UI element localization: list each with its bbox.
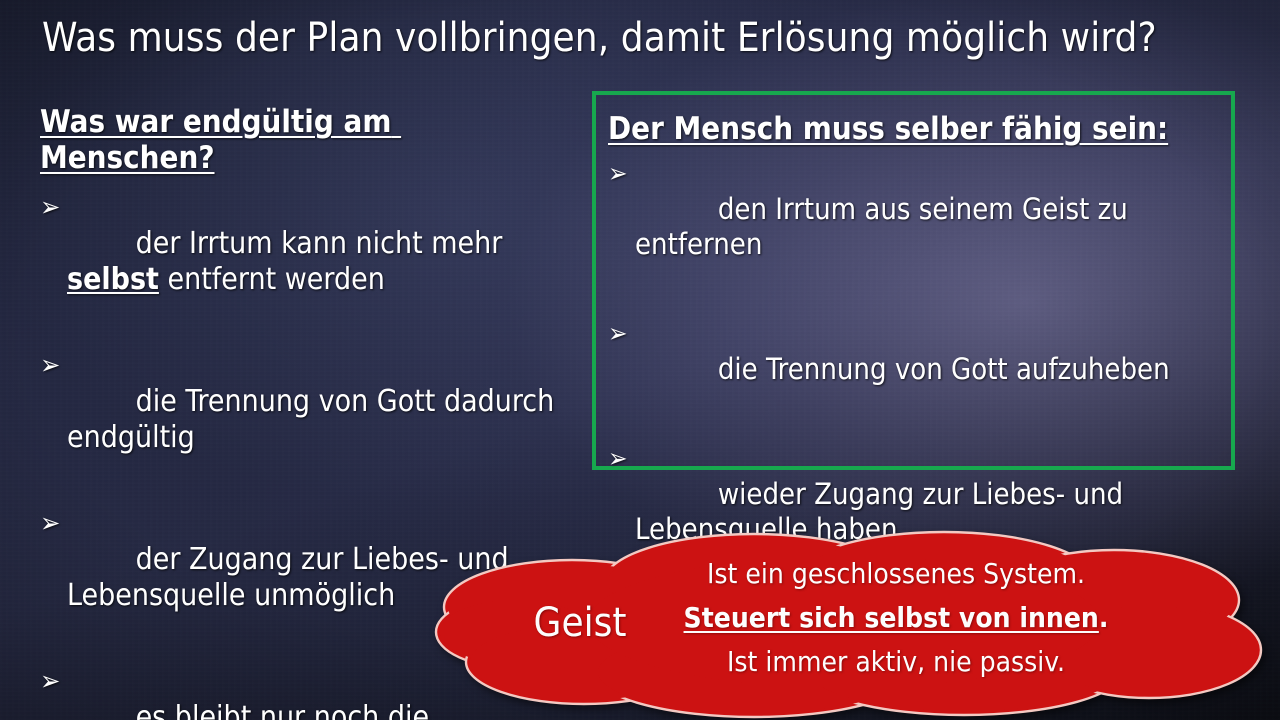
cloud-line-period: . [1099, 601, 1109, 634]
right-column-box: Der Mensch muss selber fähig sein: ➢den … [592, 91, 1235, 470]
cloud-line: Ist immer aktiv, nie passiv. [646, 640, 1146, 684]
list-item-text: der Irrtum kann nicht mehr [136, 226, 503, 261]
bullet-arrow-icon: ➢ [40, 506, 60, 542]
left-column-heading: Was war endgültig am Menschen? [40, 104, 570, 176]
right-column-heading: Der Mensch muss selber fähig sein: [608, 111, 1220, 147]
list-item-text: den Irrtum aus seinem Geist zu entfernen [635, 192, 1136, 261]
cloud-text-lines: Ist ein geschlossenes System. Steuert si… [646, 552, 1146, 684]
page-title: Was muss der Plan vollbringen, damit Erl… [42, 14, 1222, 62]
cloud-line-underlined-text: Steuert sich selbst von innen [684, 601, 1099, 634]
cloud-line-emphasis: Steuert sich selbst von innen. [646, 596, 1146, 640]
list-item: ➢den Irrtum aus seinem Geist zu entferne… [608, 157, 1220, 297]
cloud-callout: Geist Ist ein geschlossenes System. Steu… [424, 522, 1270, 720]
bullet-arrow-icon: ➢ [608, 317, 628, 352]
list-item-text: die Trennung von Gott dadurch endgültig [67, 384, 554, 455]
list-item: ➢der Irrtum kann nicht mehr selbst entfe… [40, 190, 570, 334]
list-item-text: die Trennung von Gott aufzuheben [718, 352, 1170, 386]
cloud-label: Geist [500, 600, 660, 646]
bullet-arrow-icon: ➢ [40, 348, 60, 384]
list-item-text-tail: entfernt werden [159, 262, 385, 297]
bullet-arrow-icon: ➢ [40, 664, 60, 700]
list-item-emphasis: selbst [67, 262, 159, 297]
list-item: ➢die Trennung von Gott dadurch endgültig [40, 348, 570, 492]
list-item: ➢die Trennung von Gott aufzuheben [608, 317, 1220, 422]
bullet-arrow-icon: ➢ [40, 190, 60, 226]
cloud-line: Ist ein geschlossenes System. [646, 552, 1146, 596]
bullet-arrow-icon: ➢ [608, 442, 628, 477]
slide-canvas: Was muss der Plan vollbringen, damit Erl… [0, 0, 1280, 720]
bullet-arrow-icon: ➢ [608, 157, 628, 192]
